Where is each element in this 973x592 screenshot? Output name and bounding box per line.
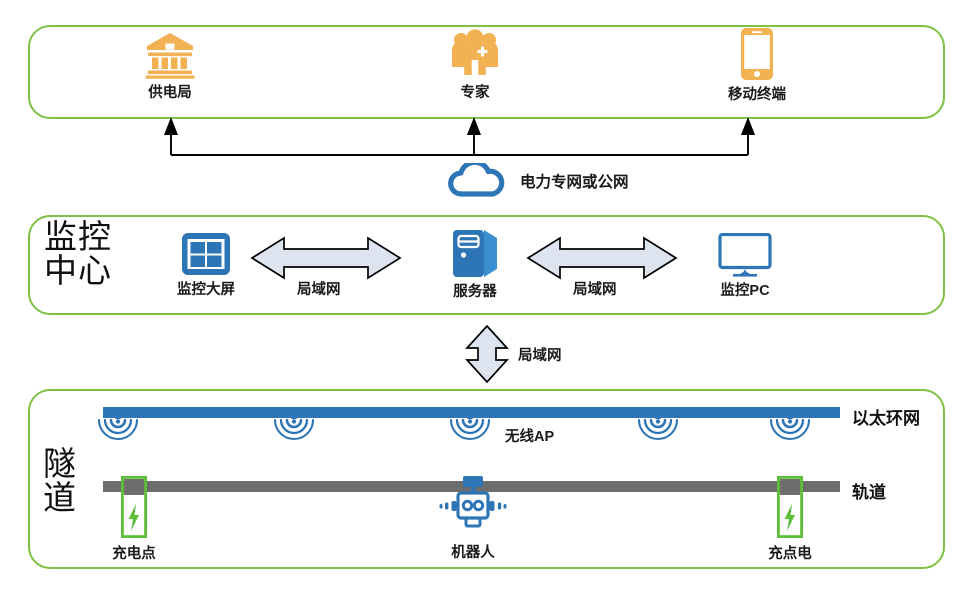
wireless-ap-label: 无线AP bbox=[505, 425, 554, 446]
node-mobile-device[interactable]: 移动终端 bbox=[712, 27, 802, 104]
node-power-bureau[interactable]: 供电局 bbox=[131, 31, 209, 102]
tunnel-title-line1: 隧 bbox=[43, 448, 77, 482]
node-label: 机器人 bbox=[451, 541, 495, 562]
node-label: 充点电 bbox=[768, 542, 812, 563]
ethernet-ring-label: 以太环网 bbox=[852, 404, 920, 429]
charging-station-icon bbox=[777, 476, 803, 538]
rail-label: 轨道 bbox=[852, 478, 886, 503]
node-expert[interactable]: 专家 bbox=[441, 29, 509, 102]
node-video-wall[interactable]: 监控大屏 bbox=[165, 232, 247, 299]
charging-station-icon bbox=[121, 476, 147, 538]
lan-arrow-down bbox=[467, 326, 507, 382]
monitor-icon bbox=[718, 233, 772, 277]
cloud-icon bbox=[448, 163, 506, 197]
video-wall-icon bbox=[181, 232, 231, 276]
node-server[interactable]: 服务器 bbox=[441, 228, 509, 301]
monitoring-center-title-line2: 中心 bbox=[44, 255, 112, 289]
node-charging-point-right[interactable]: 充点电 bbox=[760, 476, 820, 563]
node-charging-point-left[interactable]: 充电点 bbox=[104, 476, 164, 563]
monitoring-center-title: 监控 中心 bbox=[44, 221, 112, 289]
public-network-label: 电力专网或公网 bbox=[520, 170, 629, 192]
bank-icon bbox=[145, 31, 195, 79]
node-label: 监控PC bbox=[720, 279, 769, 300]
robot-icon bbox=[437, 476, 509, 538]
tunnel-title: 隧 道 bbox=[43, 448, 77, 516]
lan-label-down: 局域网 bbox=[518, 344, 562, 365]
node-monitoring-pc[interactable]: 监控PC bbox=[704, 233, 786, 300]
node-public-network bbox=[448, 163, 506, 197]
lan-label-left: 局域网 bbox=[297, 278, 341, 299]
node-label: 监控大屏 bbox=[177, 278, 235, 299]
node-robot[interactable]: 机器人 bbox=[437, 476, 509, 562]
node-label: 专家 bbox=[461, 81, 490, 102]
node-label: 服务器 bbox=[453, 280, 497, 301]
diagram-canvas: 供电局 专家 bbox=[0, 0, 973, 592]
server-icon bbox=[451, 228, 499, 278]
smartphone-icon bbox=[740, 27, 774, 81]
experts-icon bbox=[450, 29, 500, 79]
tunnel-title-line2: 道 bbox=[43, 482, 77, 516]
node-label: 供电局 bbox=[148, 81, 192, 102]
monitoring-center-title-line1: 监控 bbox=[44, 221, 112, 255]
node-label: 移动终端 bbox=[728, 83, 786, 104]
lan-label-right: 局域网 bbox=[573, 278, 617, 299]
node-label: 充电点 bbox=[112, 542, 156, 563]
ethernet-ring-bar bbox=[103, 407, 840, 418]
